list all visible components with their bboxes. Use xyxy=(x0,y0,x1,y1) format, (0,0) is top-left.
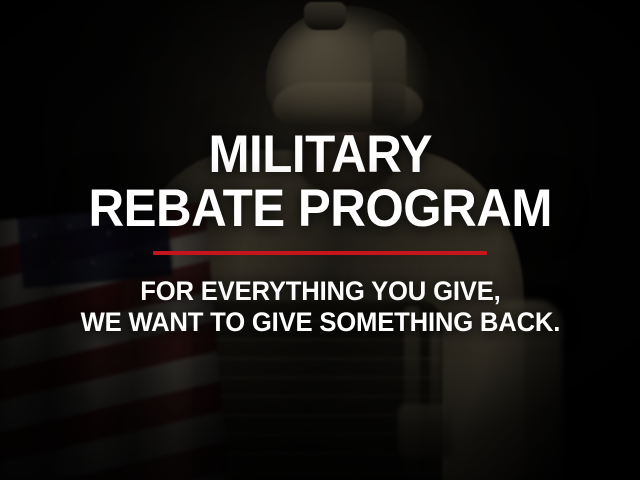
military-rebate-banner: MILITARY REBATE PROGRAM FOR EVERYTHING Y… xyxy=(0,0,640,480)
banner-content: MILITARY REBATE PROGRAM FOR EVERYTHING Y… xyxy=(0,0,640,480)
subheadline-line-2: WE WANT TO GIVE SOMETHING BACK. xyxy=(80,307,560,338)
headline-line-2: REBATE PROGRAM xyxy=(88,182,552,236)
headline: MILITARY REBATE PROGRAM xyxy=(88,128,552,236)
subheadline: FOR EVERYTHING YOU GIVE, WE WANT TO GIVE… xyxy=(80,276,560,338)
headline-line-1: MILITARY xyxy=(88,128,552,182)
red-divider xyxy=(153,251,487,255)
subheadline-line-1: FOR EVERYTHING YOU GIVE, xyxy=(80,276,560,307)
